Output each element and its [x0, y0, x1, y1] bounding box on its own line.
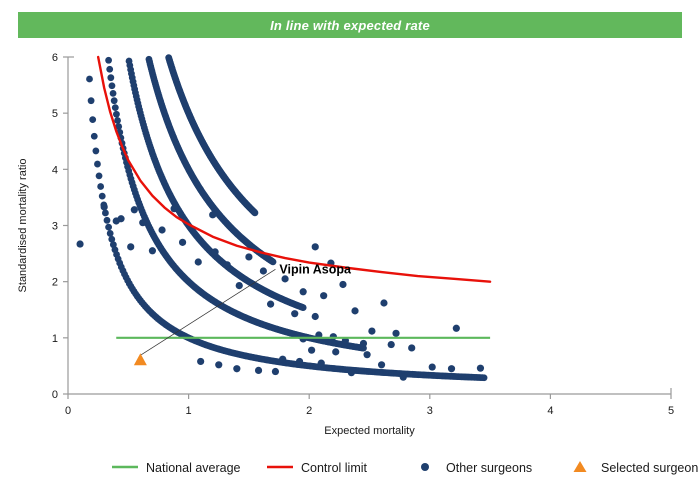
x-tick-label: 3: [427, 405, 433, 417]
data-point: [96, 172, 103, 179]
data-point: [312, 243, 319, 250]
data-point: [131, 206, 138, 213]
data-point: [209, 211, 216, 218]
data-point: [149, 247, 156, 254]
data-point: [102, 210, 109, 217]
data-point: [281, 275, 288, 282]
x-tick-label: 0: [65, 405, 71, 417]
funnel-plot: 0123456012345Expected mortalityStandardi…: [0, 0, 700, 500]
data-point: [291, 310, 298, 317]
data-point: [195, 258, 202, 265]
data-point: [105, 57, 112, 64]
y-axis-title: Standardised mortality ratio: [17, 159, 29, 293]
data-point: [378, 361, 385, 368]
data-point: [99, 193, 106, 200]
data-point: [158, 226, 165, 233]
data-point: [279, 356, 286, 363]
x-tick-label: 1: [186, 405, 192, 417]
data-point: [272, 368, 279, 375]
data-point: [400, 374, 407, 381]
data-point: [267, 301, 274, 308]
data-point: [139, 219, 146, 226]
data-point: [92, 148, 99, 155]
legend-label: Control limit: [301, 461, 368, 475]
data-point: [252, 209, 259, 216]
y-tick-label: 6: [52, 52, 58, 64]
data-point: [332, 348, 339, 355]
data-point: [320, 292, 327, 299]
data-point: [348, 369, 355, 376]
data-point: [113, 111, 120, 118]
data-point: [76, 240, 83, 247]
data-point: [171, 205, 178, 212]
data-point: [88, 97, 95, 104]
data-point: [312, 313, 319, 320]
data-point: [111, 97, 118, 104]
data-point: [212, 248, 219, 255]
data-point: [112, 104, 119, 111]
x-tick-label: 2: [306, 405, 312, 417]
x-tick-label: 4: [547, 405, 553, 417]
legend-marker-triangle: [574, 461, 587, 472]
y-tick-label: 2: [52, 277, 58, 289]
data-point: [94, 161, 101, 168]
data-point: [368, 327, 375, 334]
data-point: [318, 360, 325, 367]
data-point: [351, 307, 358, 314]
data-point: [107, 74, 114, 81]
data-point: [91, 133, 98, 140]
selected-surgeon-marker[interactable]: [134, 353, 147, 365]
data-point: [106, 66, 113, 73]
data-point: [109, 82, 116, 89]
data-point: [113, 217, 120, 224]
y-tick-label: 1: [52, 333, 58, 345]
data-point: [236, 282, 243, 289]
data-point: [339, 281, 346, 288]
data-point: [477, 365, 484, 372]
data-point: [233, 365, 240, 372]
legend-label: National average: [146, 461, 241, 475]
data-point: [107, 230, 114, 237]
data-point: [300, 335, 307, 342]
data-point: [300, 304, 307, 311]
data-point: [101, 203, 108, 210]
x-axis-title: Expected mortality: [324, 425, 415, 437]
data-point: [363, 351, 370, 358]
legend-marker-dot: [421, 463, 429, 471]
data-point: [114, 117, 121, 124]
other-surgeons-points: [76, 54, 487, 381]
data-point: [197, 358, 204, 365]
data-point: [408, 344, 415, 351]
data-point: [127, 243, 134, 250]
data-point: [380, 299, 387, 306]
y-tick-label: 0: [52, 389, 58, 401]
data-point: [296, 358, 303, 365]
data-point: [89, 116, 96, 123]
data-point: [224, 261, 231, 268]
y-tick-label: 4: [52, 164, 58, 176]
data-point: [260, 267, 267, 274]
data-point: [245, 253, 252, 260]
data-point: [215, 361, 222, 368]
y-tick-label: 3: [52, 221, 58, 233]
chart-canvas: 0123456012345Expected mortalityStandardi…: [0, 0, 700, 500]
data-point: [388, 341, 395, 348]
data-point: [255, 367, 262, 374]
data-point: [86, 76, 93, 83]
data-point: [360, 340, 367, 347]
data-point: [270, 258, 277, 265]
legend-label: Other surgeons: [446, 461, 532, 475]
data-point: [300, 288, 307, 295]
legend-label: Selected surgeon: [601, 461, 698, 475]
data-point: [448, 365, 455, 372]
data-point: [453, 325, 460, 332]
x-tick-label: 5: [668, 405, 674, 417]
annotation-label: Vipin Asopa: [279, 262, 352, 276]
data-point: [105, 224, 112, 231]
data-point: [330, 333, 337, 340]
data-point: [179, 239, 186, 246]
y-tick-label: 5: [52, 108, 58, 120]
data-point: [481, 374, 488, 381]
data-point: [429, 363, 436, 370]
data-point: [104, 217, 111, 224]
data-point: [308, 347, 315, 354]
data-point: [392, 330, 399, 337]
data-point: [97, 183, 104, 190]
data-point: [110, 90, 117, 97]
